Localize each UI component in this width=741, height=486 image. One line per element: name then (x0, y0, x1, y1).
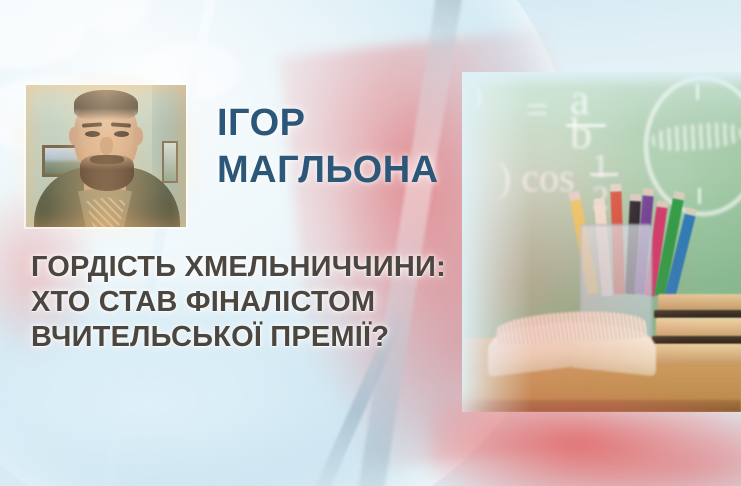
speaker-portrait (26, 85, 186, 227)
speaker-last-name: МАГЛЬОНА (217, 147, 537, 194)
headline-line-3: ВЧИТЕЛЬСЬКОЇ ПРЕМІЇ? (31, 320, 531, 355)
news-banner: ) = a b ) cos 1 2 (0, 0, 741, 486)
red-accent-wash-bottom (430, 400, 741, 486)
school-photo-top-fade (462, 72, 741, 88)
headline: ГОРДІСТЬ ХМЕЛЬНИЧЧИНИ: ХТО СТАВ ФІНАЛІСТ… (31, 250, 531, 355)
headline-line-1: ГОРДІСТЬ ХМЕЛЬНИЧЧИНИ: (31, 250, 531, 285)
speaker-name: ІГОР МАГЛЬОНА (217, 100, 537, 194)
headline-line-2: ХТО СТАВ ФІНАЛІСТОМ (31, 285, 531, 320)
portrait-frame (26, 85, 186, 227)
speaker-first-name: ІГОР (217, 100, 537, 147)
portrait-warm-vignette (26, 85, 186, 227)
